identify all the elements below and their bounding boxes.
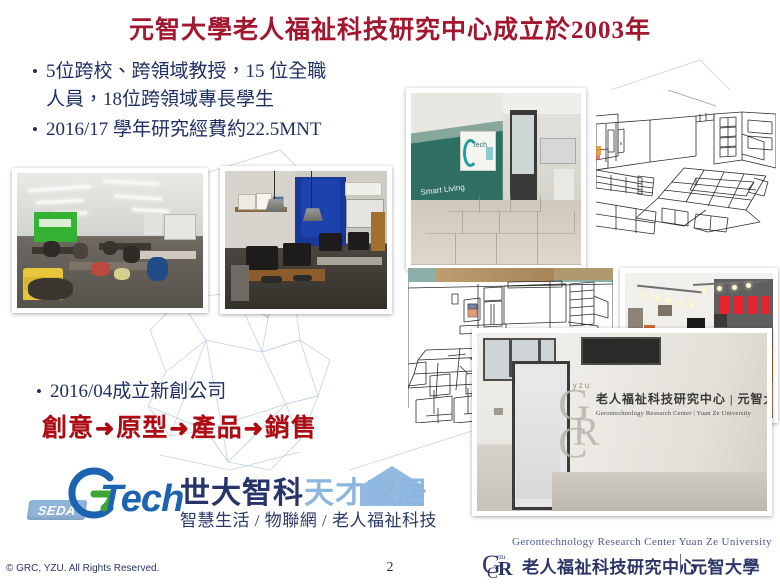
grc-footer-english: Gerontechnology Research Center Yuan Ze … bbox=[512, 536, 772, 548]
svg-text:yzu: yzu bbox=[496, 555, 505, 561]
bullet-marker: • bbox=[32, 116, 46, 144]
bullet-item: • 5位跨校、跨領域教授，15 位全職 人員，18位跨領域專長學生 bbox=[32, 58, 407, 114]
yzu-superscript: yzu bbox=[573, 381, 591, 390]
innovation-flow-line: 創意➜原型➜產品➜銷售 bbox=[42, 408, 317, 444]
gtech-wordmark: Tech bbox=[100, 478, 183, 521]
office-blue-wall-photo bbox=[220, 166, 392, 314]
svg-text:C: C bbox=[487, 565, 498, 579]
bullet-line-1: 5位跨校、跨領域教授，15 位全職 bbox=[46, 61, 326, 82]
company-name-light: 天才家居 bbox=[304, 468, 428, 512]
bullet-text: 2016/04成立新創公司 bbox=[50, 378, 436, 406]
bullet-list-bottom: • 2016/04成立新創公司 bbox=[36, 378, 436, 408]
bullet-item: • 2016/04成立新創公司 bbox=[36, 378, 436, 406]
wall-sign-english: Gerontechnology Research Center | Yuan Z… bbox=[596, 410, 751, 417]
bullet-list-top: • 5位跨校、跨領域教授，15 位全職 人員，18位跨領域專長學生 • 2016… bbox=[32, 58, 407, 146]
wall-sign-chinese: 老人福祉科技研究中心 | 元智大學 bbox=[596, 390, 767, 407]
gtech-wall-sign: Tech bbox=[460, 131, 496, 171]
flow-step: 原型 bbox=[116, 415, 168, 442]
flow-step: 產品 bbox=[191, 415, 243, 442]
arrow-right-icon: ➜ bbox=[168, 416, 190, 441]
grc-monogram-icon: G C R yzu bbox=[482, 549, 524, 579]
corridor-smart-living-photo: Tech Smart Living IoT Gerontechnology bbox=[406, 88, 586, 270]
bullet-item: • 2016/17 學年研究經費約22.5MNT bbox=[32, 116, 407, 144]
grc-footer-chinese-right: 元智大學 bbox=[690, 553, 760, 578]
slide-title: 元智大學老人福祉科技研究中心成立於2003年 bbox=[0, 10, 780, 46]
slide-canvas: 元智大學老人福祉科技研究中心成立於2003年 • 5位跨校、跨領域教授，15 位… bbox=[0, 0, 780, 585]
bullet-marker: • bbox=[32, 58, 46, 86]
bullet-marker: • bbox=[36, 378, 50, 406]
svg-text:R: R bbox=[498, 558, 513, 579]
grc-footer-chinese-left: 老人福祉科技研究中心 bbox=[522, 553, 697, 578]
bullet-text: 5位跨校、跨領域教授，15 位全職 人員，18位跨領域專長學生 bbox=[46, 58, 407, 114]
grc-signage-wall-photo: GC R yzu 老人福祉科技研究中心 | 元智大學 Gerontechnolo… bbox=[472, 328, 772, 516]
gtech-seda-logo: SEDA Tech 世大智科 天才家居 智慧生活 / 物聯網 / 老人福祉科技 bbox=[28, 462, 448, 534]
bullet-line-2: 人員，18位跨領域專長學生 bbox=[46, 89, 274, 110]
arrow-right-icon: ➜ bbox=[94, 416, 116, 441]
bullet-text: 2016/17 學年研究經費約22.5MNT bbox=[46, 116, 407, 144]
flow-step: 創意 bbox=[42, 415, 94, 442]
interior-space-line-sketch bbox=[596, 90, 776, 235]
flow-step: 銷售 bbox=[265, 415, 317, 442]
lab-open-office-photo bbox=[12, 168, 208, 313]
gtech-sign-label: Tech bbox=[472, 142, 487, 149]
arrow-right-icon: ➜ bbox=[243, 416, 265, 441]
grc-footer-logo: Gerontechnology Research Center Yuan Ze … bbox=[482, 536, 772, 582]
grc-footer-divider bbox=[680, 554, 681, 574]
